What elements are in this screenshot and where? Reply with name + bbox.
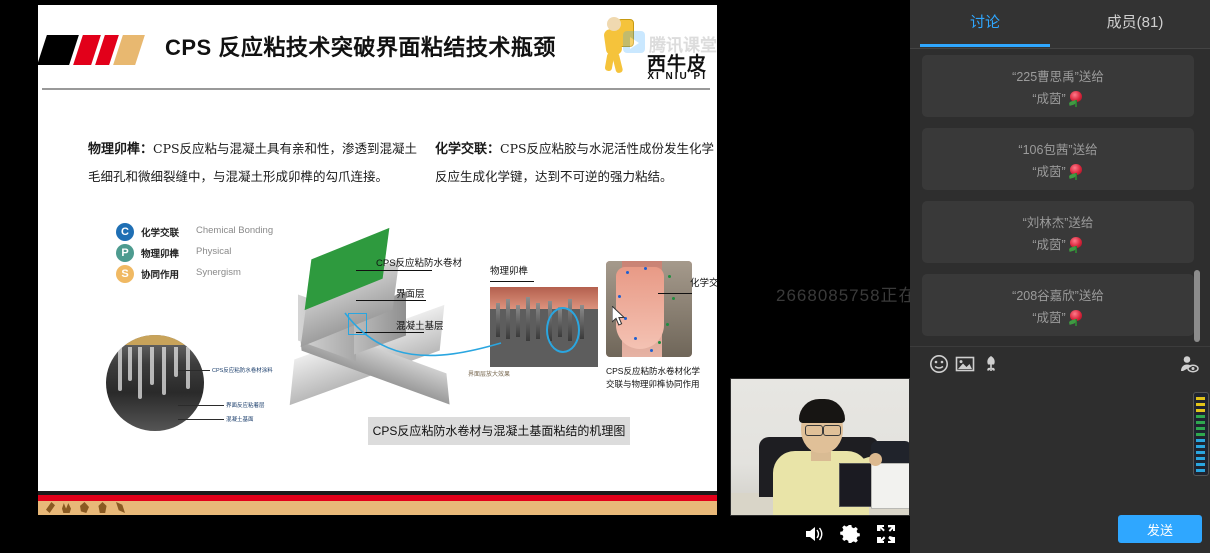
paragraph-physical-lead: 物理卯榫： [88,142,153,157]
paragraph-physical: 物理卯榫：CPS反应粘与混凝土具有亲和性，渗透到混凝土毛细孔和微细裂缝中，与混凝… [88,135,428,190]
chat-scrollbar-thumb[interactable] [1194,270,1200,342]
message-line2: “成茵” [922,88,1194,107]
label-right-note-1: CPS反应粘防水卷材化学 [606,365,700,377]
audio-level-meter [1193,392,1209,476]
app-root: CPS 反应粘技术突破界面粘结技术瓶颈 腾讯课堂 西牛皮 [0,0,1210,553]
cps-legend-p-en: Physical [196,246,231,257]
list-item[interactable]: “106包茜”送给 “成茵” [922,128,1194,190]
label-micro-note: 界面层放大效果 [468,369,510,378]
message-target: “成茵” [1032,238,1065,252]
smiley-icon[interactable] [928,353,950,375]
chat-toolbar [910,346,1210,381]
cps-badge-s-icon: S [116,265,134,283]
slide-title: CPS 反应粘技术突破界面粘结技术瓶颈 [165,31,585,65]
micro-photo [106,335,204,431]
cps-legend-row-s: S 协同作用 Synergism [116,265,306,286]
label-interface: 界面层 [396,286,425,300]
chat-tabs: 讨论 成员(81) [910,0,1210,49]
cps-legend-p-cn: 物理卯榫 [141,246,179,260]
list-item[interactable]: “208谷嘉欣”送给 “成茵” [922,274,1194,336]
tab-discussion[interactable]: 讨论 [910,0,1060,46]
cps-legend-c-en: Chemical Bonding [196,225,273,236]
message-target: “成茵” [1032,165,1065,179]
rose-icon [1068,237,1084,253]
message-target: “成茵” [1032,92,1065,106]
label-right-note-2: 交联与物理卯榫协同作用 [606,378,700,390]
presenter-video[interactable] [730,378,910,516]
micro-label-2: 界面反应粘着层 [226,401,265,409]
cps-badge-c-icon: C [116,223,134,241]
image-icon[interactable] [954,353,976,375]
send-button[interactable]: 发送 [1118,515,1202,543]
fullscreen-icon[interactable] [875,523,897,545]
micro-label-3: 混凝土基面 [226,415,254,423]
message-target: “成茵” [1032,311,1065,325]
cps-legend-s-cn: 协同作用 [141,267,179,281]
cross-section-middle [490,287,598,367]
player-controls [795,523,905,549]
chat-input-area[interactable] [910,381,1210,491]
tab-active-indicator [920,44,1050,47]
label-chemical-zoom: 化学交联 [690,275,717,289]
decorative-stripes [42,35,142,65]
tab-members[interactable]: 成员(81) [1060,0,1210,46]
cps-badge-p-icon: P [116,244,134,262]
message-line2: “成茵” [922,307,1194,326]
highlight-oval [546,307,580,353]
stage-overlay-text: 2668085758正在 [776,281,917,306]
connector-curve [343,305,503,365]
chat-panel: 讨论 成员(81) “225曹思禹”送给 “成茵” “106包茜”送给 “成茵”… [910,0,1210,553]
presentation-stage: CPS 反应粘技术突破界面粘结技术瓶颈 腾讯课堂 西牛皮 [0,0,910,553]
slide-caption: CPS反应粘防水卷材与混凝土基面粘结的机理图 [368,417,630,445]
label-roll: CPS反应粘防水卷材 [376,255,462,269]
list-item[interactable]: “刘林杰”送给 “成茵” [922,201,1194,263]
rose-icon [1068,310,1084,326]
slide: CPS 反应粘技术突破界面粘结技术瓶颈 腾讯课堂 西牛皮 [38,5,717,515]
cps-legend-c-cn: 化学交联 [141,225,179,239]
mouse-cursor [612,306,628,328]
chat-input[interactable] [920,387,1204,481]
flower-icon[interactable] [980,353,1002,375]
list-item[interactable]: “225曹思禹”送给 “成茵” [922,55,1194,117]
message-list[interactable]: “225曹思禹”送给 “成茵” “106包茜”送给 “成茵” “刘林杰”送给 “… [910,49,1210,345]
label-physical-zoom: 物理卯榫 [490,263,528,277]
cps-legend-row-c: C 化学交联 Chemical Bonding [116,223,306,244]
slide-footer-strip [38,491,717,515]
message-line1: “106包茜”送给 [922,139,1194,158]
message-line1: “208谷嘉欣”送给 [922,285,1194,304]
message-line2: “成茵” [922,234,1194,253]
rose-icon [1068,91,1084,107]
cps-legend-s-en: Synergism [196,267,241,278]
cps-legend: C 化学交联 Chemical Bonding P 物理卯榫 Physical … [116,223,306,285]
brand-name-en: XI NIU PI [647,71,707,82]
gear-icon[interactable] [839,523,861,545]
micro-label-1: CPS反应粘防水卷材涂料 [212,366,273,374]
cps-legend-row-p: P 物理卯榫 Physical [116,244,306,265]
header-divider [42,88,710,90]
volume-icon[interactable] [803,523,825,545]
message-line1: “225曹思禹”送给 [922,66,1194,85]
message-line2: “成茵” [922,161,1194,180]
paragraph-chemical-lead: 化学交联： [435,142,500,157]
brand-logo: 腾讯课堂 西牛皮 XI NIU PI [589,15,709,87]
slide-header: CPS 反应粘技术突破界面粘结技术瓶颈 腾讯课堂 西牛皮 [38,5,717,90]
person-eye-icon[interactable] [1178,353,1200,375]
paragraph-chemical: 化学交联：CPS反应粘胶与水泥活性成份发生化学反应生成化学键，达到不可逆的强力粘… [435,135,717,190]
message-line1: “刘林杰”送给 [922,212,1194,231]
rose-icon [1068,164,1084,180]
